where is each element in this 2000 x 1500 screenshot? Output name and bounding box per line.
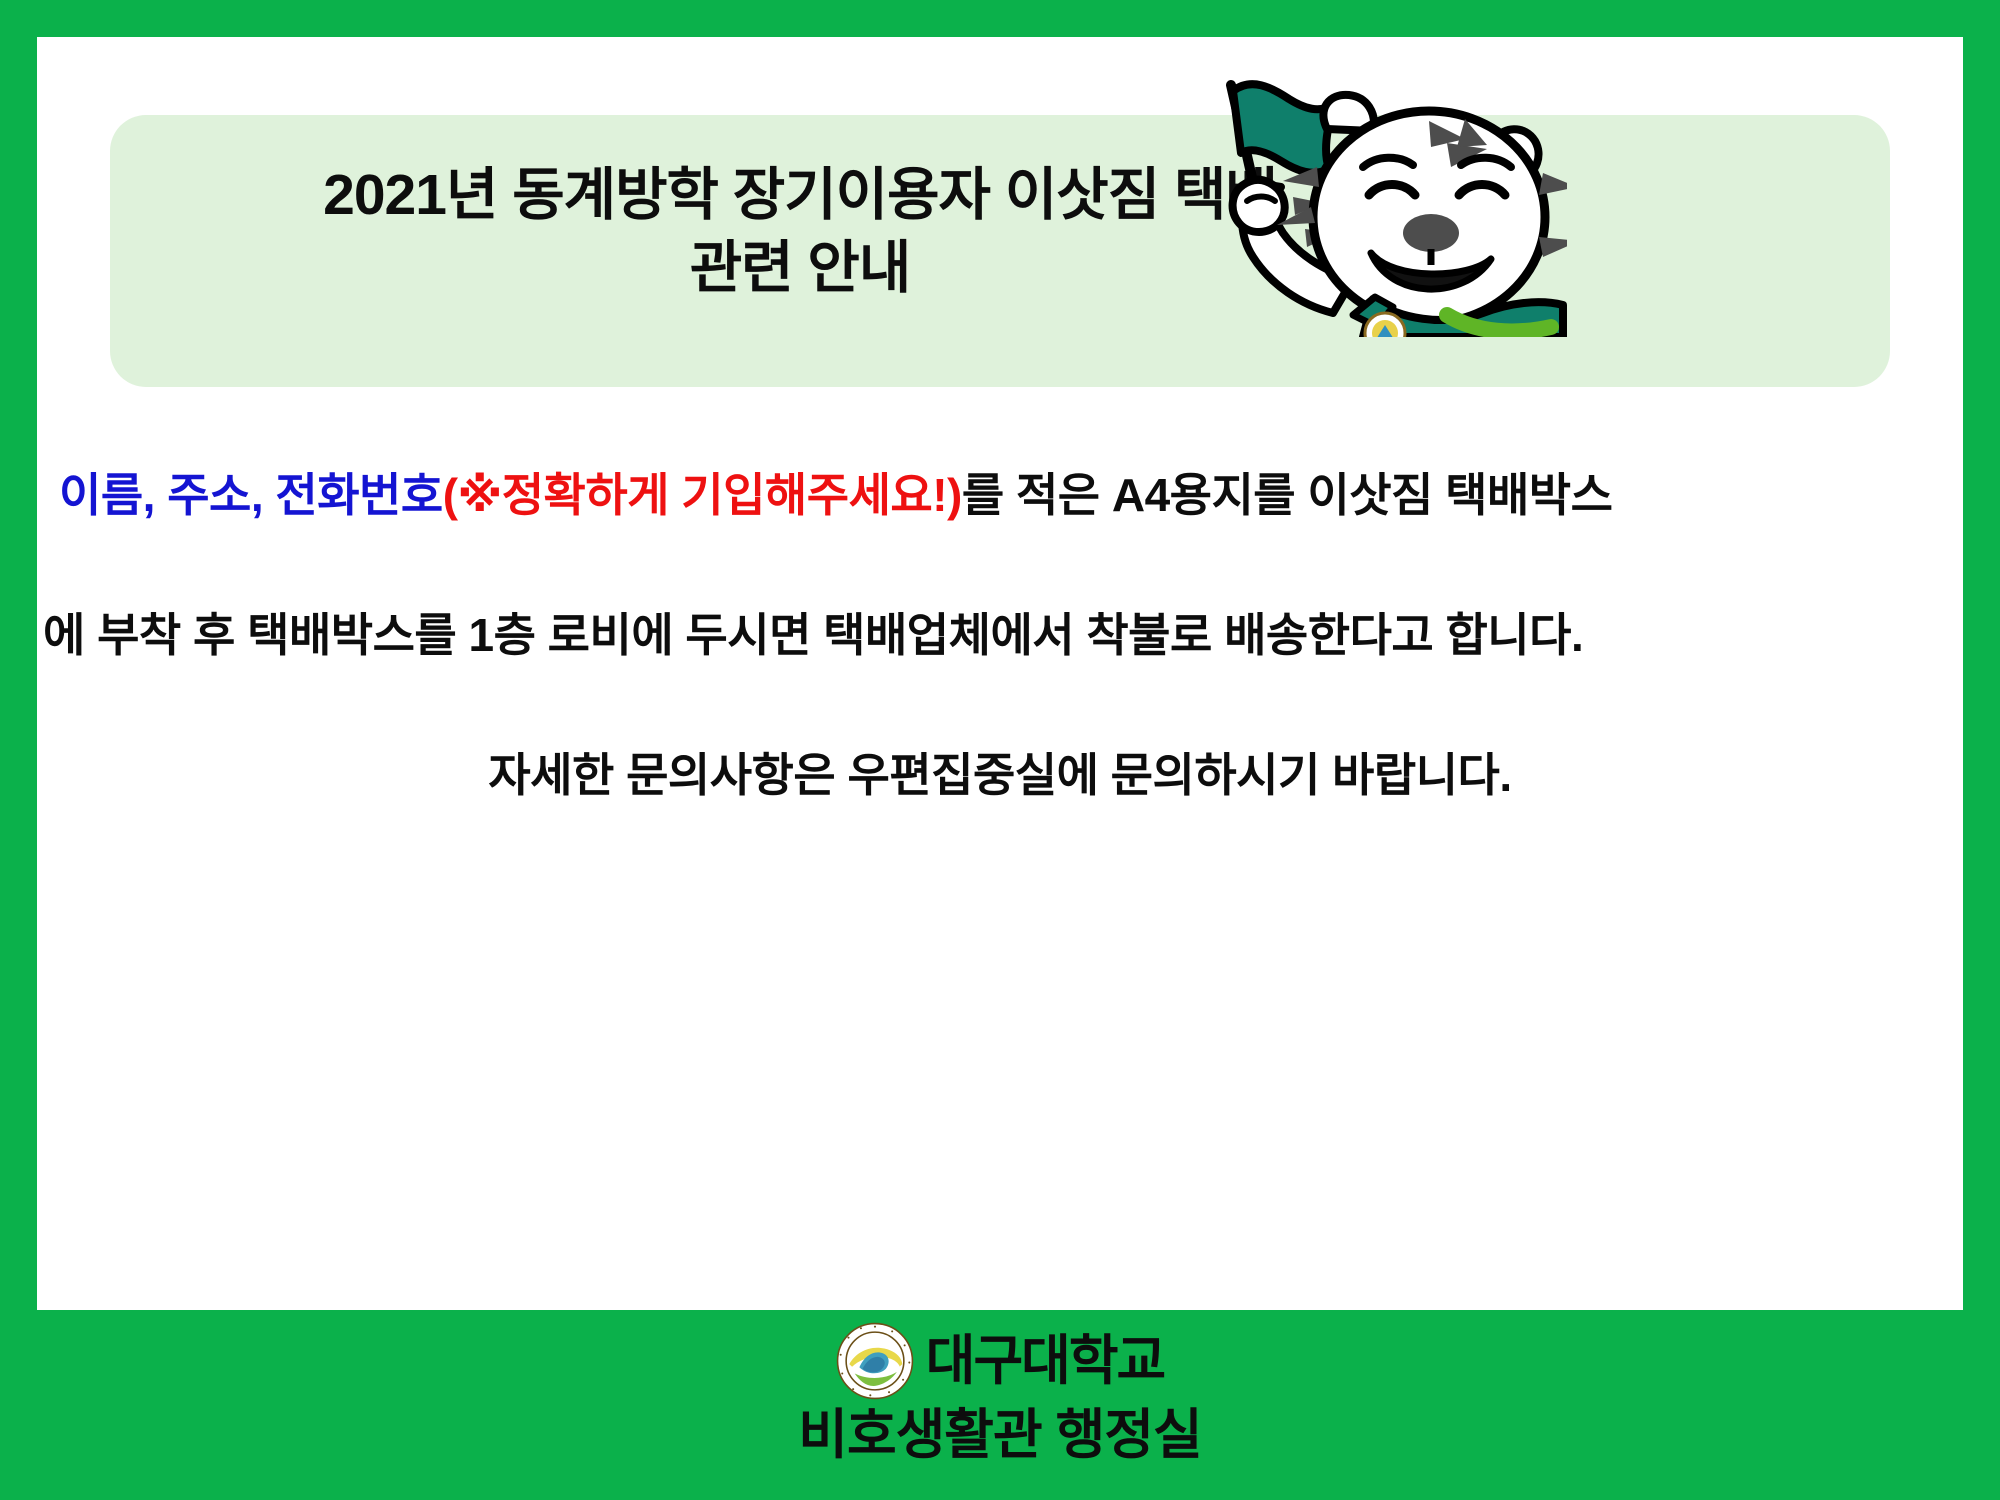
office-name: 비호생활관 행정실 [0, 1408, 2000, 1462]
footer: 대구대학교 비호생활관 행정실 [0, 1310, 2000, 1500]
body-line-1-black: 를 적은 A4용지를 이삿짐 택배박스 [962, 469, 1613, 521]
body-line-1-blue: 이름, 주소, 전화번호 [59, 469, 443, 521]
body-line-2: 에 부착 후 택배박스를 1층 로비에 두시면 택배업체에서 착불로 배송한다고… [43, 610, 1583, 661]
content-panel: 2021년 동계방학 장기이용자 이삿짐 택배 관련 안내 [37, 37, 1963, 1310]
title-banner: 2021년 동계방학 장기이용자 이삿짐 택배 관련 안내 [110, 115, 1890, 387]
footer-university-row: 대구대학교 [0, 1310, 2000, 1402]
body-line-3: 자세한 문의사항은 우편집중실에 문의하시기 바랍니다. [37, 750, 1963, 801]
page-title: 2021년 동계방학 장기이용자 이삿짐 택배 관련 안내 [110, 159, 1490, 305]
body-line-1: 이름, 주소, 전화번호(※정확하게 기입해주세요!)를 적은 A4용지를 이삿… [59, 470, 1612, 521]
university-seal-icon [836, 1322, 914, 1400]
notice-poster: 2021년 동계방학 장기이용자 이삿짐 택배 관련 안내 [0, 0, 2000, 1500]
body-line-1-red: (※정확하게 기입해주세요!) [443, 469, 962, 521]
university-name: 대구대학교 [926, 1334, 1164, 1388]
